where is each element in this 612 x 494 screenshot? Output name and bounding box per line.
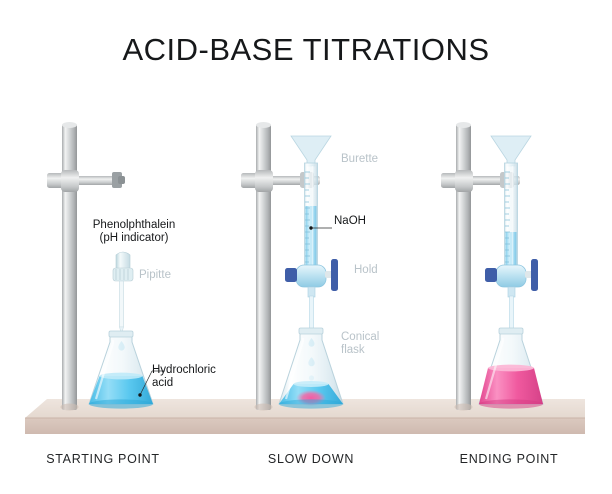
panel-slow-down bbox=[241, 122, 343, 411]
stand-pole bbox=[61, 122, 79, 411]
diagram-canvas bbox=[0, 0, 612, 494]
conical-flask-label: Conical flask bbox=[341, 331, 379, 357]
panel-ending-point bbox=[441, 122, 543, 411]
caption-ending-point: ENDING POINT bbox=[409, 452, 609, 466]
hold-label: Hold bbox=[354, 264, 378, 277]
stopcock[interactable] bbox=[285, 259, 338, 332]
burette-label: Burette bbox=[341, 153, 378, 166]
caption-slow-down: SLOW DOWN bbox=[211, 452, 411, 466]
burette bbox=[291, 136, 331, 273]
phenolphthalein-label: Phenolphthalein (pH indicator) bbox=[82, 219, 186, 245]
conical-flask bbox=[89, 331, 153, 409]
conical-flask-line2: flask bbox=[341, 344, 379, 357]
panel-starting-point bbox=[47, 122, 165, 411]
clamp-arm bbox=[47, 170, 125, 192]
stand-pole bbox=[255, 122, 273, 411]
hydrochloric-acid-label: Hydrochloric acid bbox=[152, 364, 216, 390]
pipette-label: Pipitte bbox=[139, 269, 171, 282]
hydrochloric-acid-line1: Hydrochloric bbox=[152, 364, 216, 377]
conical-flask-line1: Conical bbox=[341, 331, 379, 344]
conical-flask bbox=[279, 328, 343, 409]
phenolphthalein-line2: (pH indicator) bbox=[82, 232, 186, 245]
phenolphthalein-line1: Phenolphthalein bbox=[82, 219, 186, 232]
stopcock[interactable] bbox=[485, 259, 538, 332]
naoh-label: NaOH bbox=[334, 215, 366, 228]
hydrochloric-acid-line2: acid bbox=[152, 377, 216, 390]
conical-flask bbox=[479, 328, 543, 409]
caption-starting-point: STARTING POINT bbox=[3, 452, 203, 466]
stand-pole bbox=[455, 122, 473, 411]
burette bbox=[491, 136, 531, 273]
titration-diagram: ACID-BASE TITRATIONS bbox=[0, 0, 612, 494]
